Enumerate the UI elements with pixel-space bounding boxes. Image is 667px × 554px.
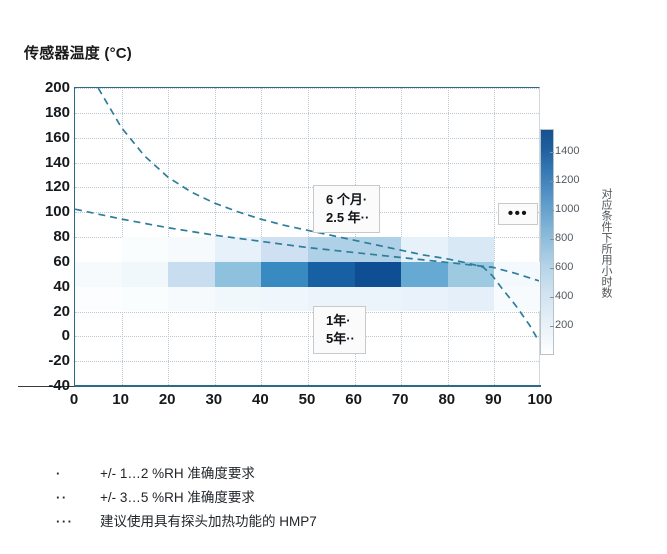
plot-area (74, 87, 540, 385)
x-tick-label: 60 (332, 392, 376, 407)
callout-line-1: 6 个月· (326, 191, 369, 209)
colorbar-tick-label: 1400 (555, 146, 579, 157)
colorbar: 140012001000800600400200 (540, 129, 554, 355)
y-axis-title: 传感器温度 (°C) (24, 42, 132, 63)
x-tick-label: 90 (471, 392, 515, 407)
colorbar-tick-label: 400 (555, 291, 573, 302)
y-tick-label: 60 (18, 254, 70, 269)
y-tick-label: 120 (18, 179, 70, 194)
footnote-text: +/- 3…5 %RH 准确度要求 (100, 486, 255, 506)
annotation-triple-dot: ••• (498, 203, 538, 225)
lower-lifetime-curve (75, 209, 539, 281)
callout-line-2: 5年·· (326, 330, 355, 348)
y-tick-label: -20 (18, 353, 70, 368)
y-tick-label: 140 (18, 155, 70, 170)
y-tick-label: 40 (18, 279, 70, 294)
annotation-1year-5years: 1年· 5年·· (313, 306, 366, 354)
colorbar-tick-label: 1000 (555, 204, 579, 215)
y-tick-label: 80 (18, 229, 70, 244)
footnote-text: +/- 1…2 %RH 准确度要求 (100, 462, 255, 482)
y-tick-label: 0 (18, 328, 70, 343)
x-axis-line (74, 385, 541, 387)
colorbar-tick-label: 200 (555, 320, 573, 331)
y-tick-label: 180 (18, 105, 70, 120)
x-axis-ticks: 0102030405060708090100 (74, 392, 540, 414)
footnote-marker: ··· (56, 515, 100, 528)
callout-line-2: 2.5 年·· (326, 209, 369, 227)
x-tick-label: 20 (145, 392, 189, 407)
x-tick-label: 50 (285, 392, 329, 407)
x-tick-label: 10 (99, 392, 143, 407)
colorbar-tick-label: 800 (555, 233, 573, 244)
footnote-text: 建议使用具有探头加热功能的 HMP7 (100, 510, 317, 530)
x-tick-label: 70 (378, 392, 422, 407)
y-tick-label: 160 (18, 130, 70, 145)
footnote-row: ···建议使用具有探头加热功能的 HMP7 (56, 510, 576, 534)
footnote-marker: ·· (56, 491, 100, 504)
x-tick-label: 80 (425, 392, 469, 407)
x-tick-label: 100 (518, 392, 562, 407)
triple-dot-text: ••• (508, 204, 528, 224)
y-axis-ticks: 200180160140120100806040200-20-40 (14, 87, 70, 385)
footnote-row: ··+/- 3…5 %RH 准确度要求 (56, 486, 576, 510)
colorbar-tick-label: 600 (555, 262, 573, 273)
x-tick-label: 0 (52, 392, 96, 407)
footnote-row: ·+/- 1…2 %RH 准确度要求 (56, 462, 576, 486)
annotation-6months-2_5years: 6 个月· 2.5 年·· (313, 185, 380, 233)
x-tick-label: 30 (192, 392, 236, 407)
footnotes: ·+/- 1…2 %RH 准确度要求··+/- 3…5 %RH 准确度要求···… (56, 462, 576, 534)
y-tick-label: 100 (18, 204, 70, 219)
lifetime-curves (75, 88, 539, 385)
y-tick-label: 20 (18, 304, 70, 319)
colorbar-gradient (540, 129, 554, 355)
colorbar-title: 对应条件下所用小时数 (598, 188, 614, 298)
colorbar-tick-label: 1200 (555, 175, 579, 186)
y-tick-label: -40 (18, 378, 70, 393)
y-tick-label: 200 (18, 80, 70, 95)
x-tick-label: 40 (238, 392, 282, 407)
callout-line-1: 1年· (326, 312, 355, 330)
footnote-marker: · (56, 467, 100, 480)
chart-page: 传感器温度 (°C) 200180160140120100806040200-2… (0, 0, 667, 554)
